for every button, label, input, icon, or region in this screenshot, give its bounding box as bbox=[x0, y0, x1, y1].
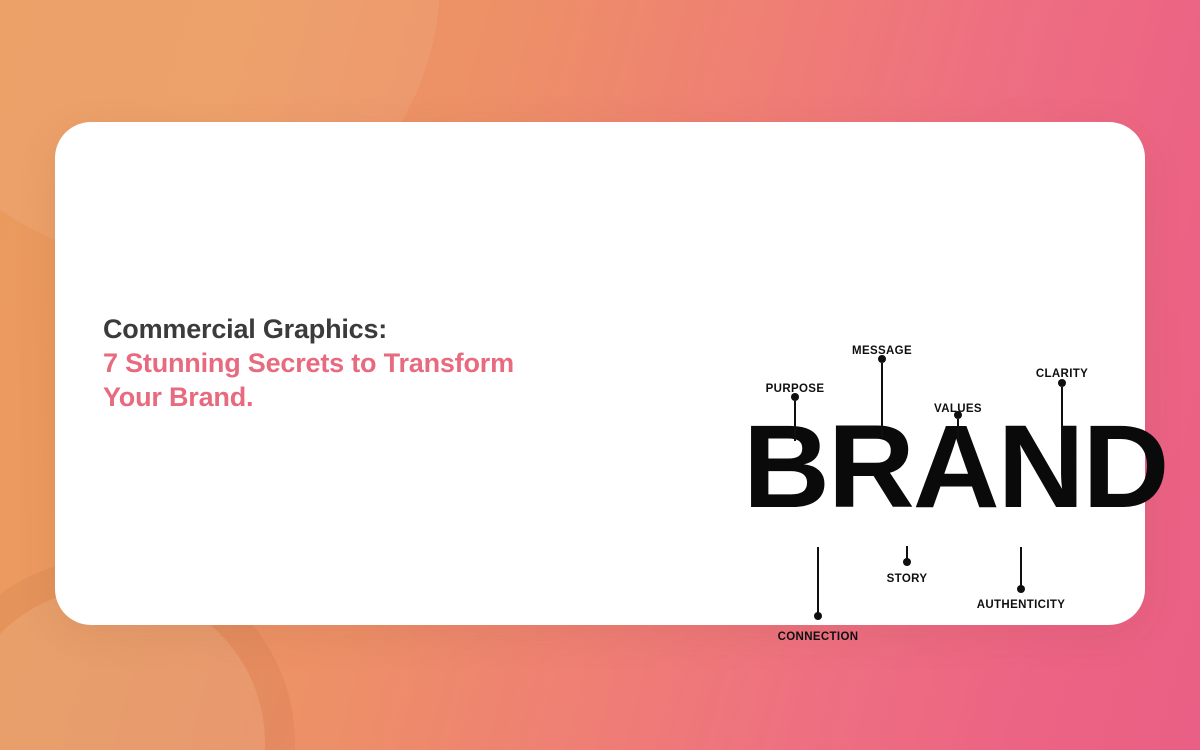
brand-node-label: AUTHENTICITY bbox=[977, 599, 1066, 611]
brand-node-connector bbox=[881, 363, 883, 437]
brand-node-label: CONNECTION bbox=[778, 631, 859, 643]
brand-node-dot bbox=[1017, 585, 1025, 593]
brand-node-connector bbox=[817, 547, 819, 616]
brand-node-dot bbox=[1058, 379, 1066, 387]
brand-node-label: MESSAGE bbox=[852, 345, 912, 357]
brand-node-connector bbox=[1061, 387, 1063, 441]
content-card: Commercial Graphics: 7 Stunning Secrets … bbox=[55, 122, 1145, 625]
brand-node-label: VALUES bbox=[934, 403, 982, 415]
brand-node-label: STORY bbox=[887, 573, 928, 585]
brand-diagram: BRAND PURPOSEMESSAGEVALUESCLARITYCONNECT… bbox=[675, 202, 1125, 642]
brand-node-connector bbox=[957, 419, 959, 438]
brand-node-label: CLARITY bbox=[1036, 368, 1088, 380]
brand-node-connector bbox=[794, 401, 796, 441]
brand-word: BRAND bbox=[743, 417, 1167, 517]
headline-accent-line-2: Your Brand. bbox=[103, 380, 623, 414]
headline-title: Commercial Graphics: bbox=[103, 312, 623, 346]
brand-node-dot bbox=[903, 558, 911, 566]
headline-accent-line-1: 7 Stunning Secrets to Transform bbox=[103, 346, 623, 380]
headline-block: Commercial Graphics: 7 Stunning Secrets … bbox=[103, 312, 623, 414]
brand-node-connector bbox=[1020, 547, 1022, 589]
slide-canvas: Commercial Graphics: 7 Stunning Secrets … bbox=[0, 0, 1200, 750]
brand-node-label: PURPOSE bbox=[766, 383, 825, 395]
brand-node-dot bbox=[814, 612, 822, 620]
